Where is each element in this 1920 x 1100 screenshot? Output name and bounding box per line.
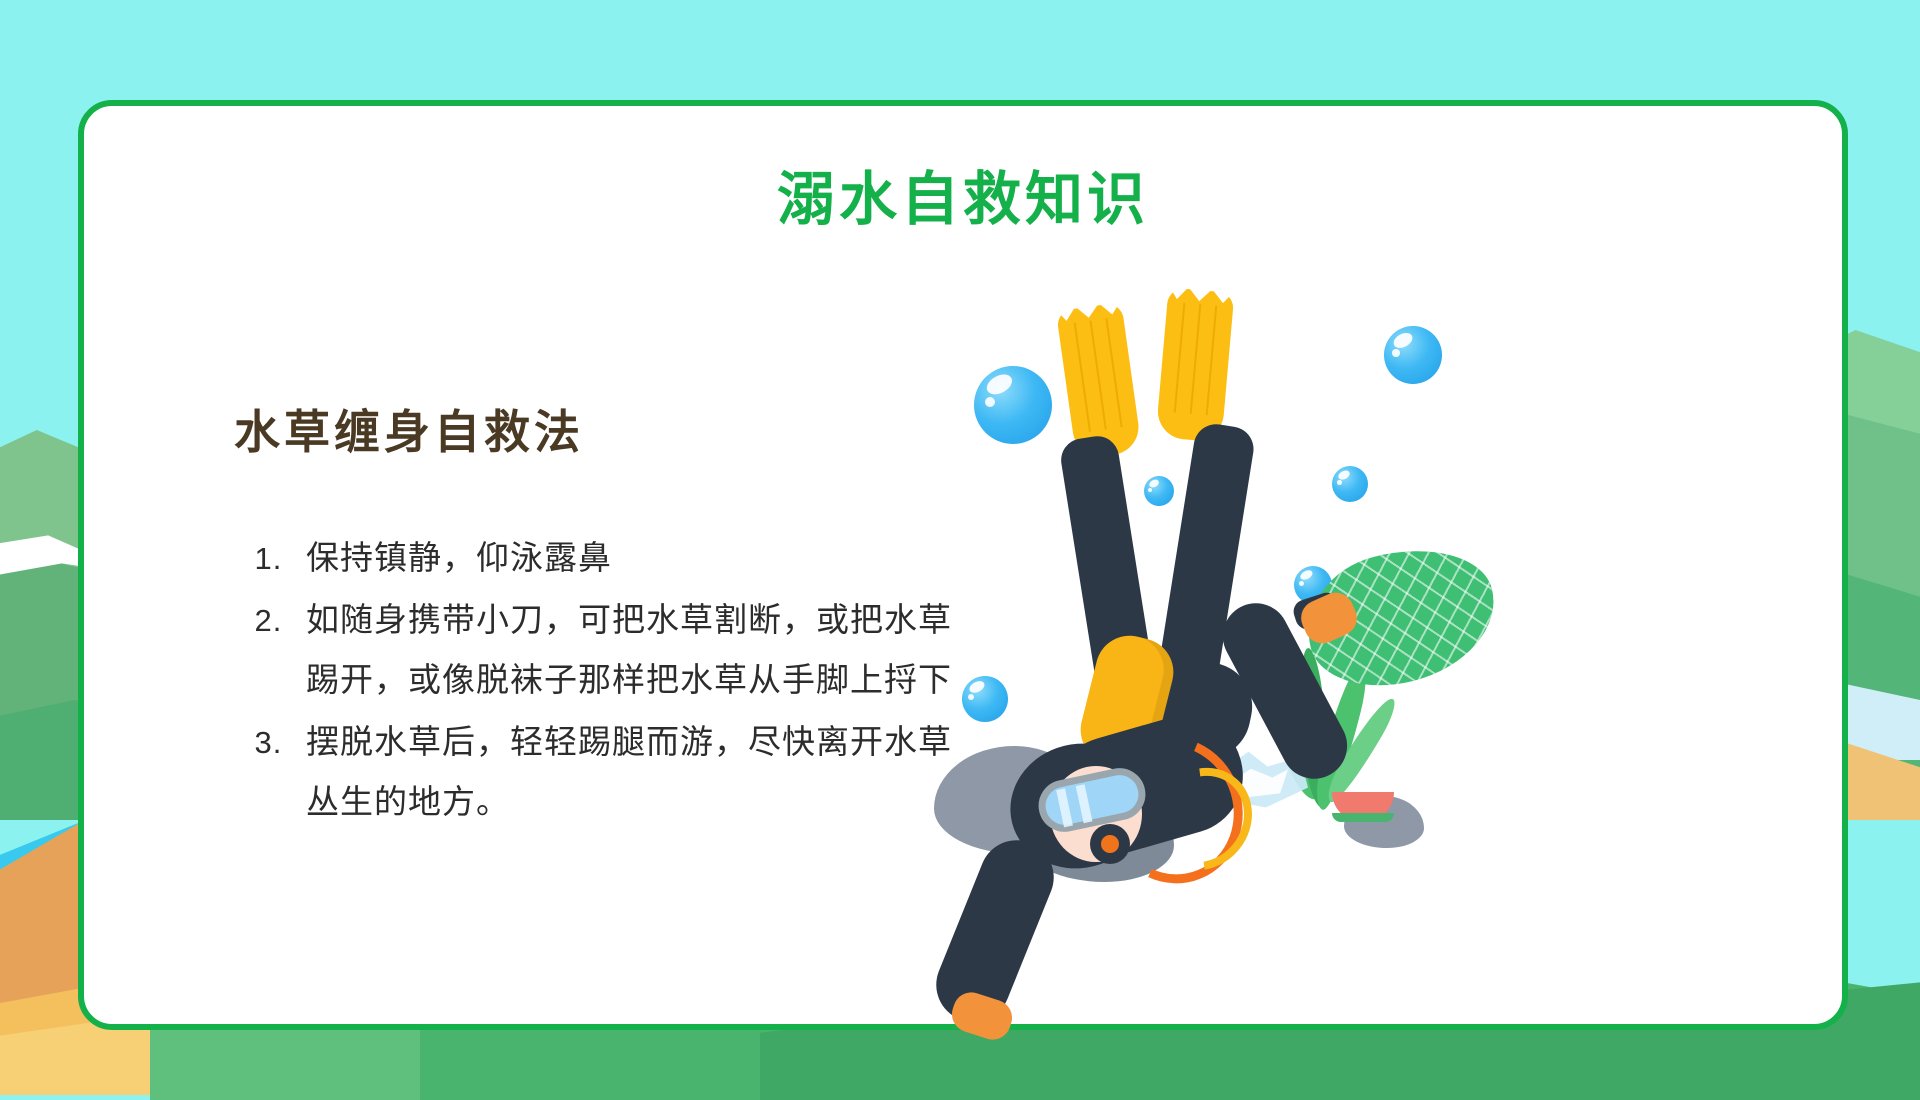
- scuba-diver-illustration: [1044, 296, 1804, 996]
- air-bubble-icon: [974, 366, 1052, 444]
- steps-list: 保持镇静，仰泳露鼻 如随身携带小刀，可把水草割断，或把水草踢开，或像脱袜子那样把…: [234, 528, 954, 832]
- air-bubble-icon: [962, 676, 1008, 722]
- content-column: 水草缠身自救法 保持镇静，仰泳露鼻 如随身携带小刀，可把水草割断，或把水草踢开，…: [234, 396, 954, 834]
- section-heading: 水草缠身自救法: [234, 396, 954, 462]
- list-item: 保持镇静，仰泳露鼻: [292, 528, 954, 588]
- page-title: 溺水自救知识: [84, 152, 1842, 236]
- slide-card: 溺水自救知识 水草缠身自救法 保持镇静，仰泳露鼻 如随身携带小刀，可把水草割断，…: [78, 100, 1848, 1030]
- regulator-mouthpiece-icon: [1090, 824, 1130, 864]
- air-bubble-icon: [1144, 476, 1174, 506]
- diving-fin-icon: [1156, 287, 1235, 442]
- air-bubble-icon: [1384, 326, 1442, 384]
- air-bubble-icon: [1332, 466, 1368, 502]
- watermelon-rind-trash-icon: [1332, 792, 1394, 822]
- list-item: 如随身携带小刀，可把水草割断，或把水草踢开，或像脱袜子那样把水草从手脚上捋下: [292, 590, 954, 710]
- list-item: 摆脱水草后，轻轻踢腿而游，尽快离开水草丛生的地方。: [292, 712, 954, 832]
